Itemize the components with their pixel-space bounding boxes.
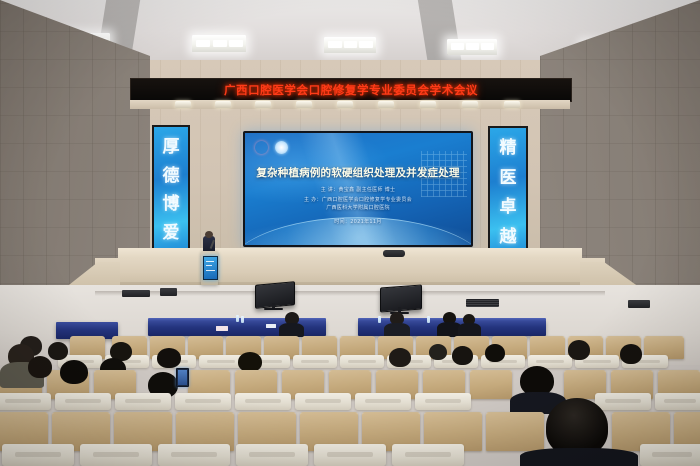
wall-wash-light (215, 101, 231, 108)
person-head (452, 346, 473, 365)
person-head (238, 352, 262, 372)
stage-equipment-box (122, 290, 150, 297)
fold-out-desk[interactable] (640, 444, 700, 466)
ceiling-light-panel (447, 39, 497, 55)
monitor-base (264, 308, 283, 310)
wall-wash-light (378, 101, 394, 108)
stage-equipment-box (160, 288, 177, 296)
hospital-logo-icon (275, 141, 288, 154)
fold-out-desk[interactable] (80, 444, 152, 466)
slide-organizer-line-2: 广西医科大学附属口腔医院 (245, 204, 471, 211)
stage-monitor-left (255, 281, 295, 308)
left-panel-char: 德 (163, 168, 180, 185)
slide-speaker-line: 主 讲：黄宝鑫 副主任医师 博士 (245, 186, 471, 193)
main-presentation-screen: 复杂种植病例的软硬组织处理及并发症处理 主 讲：黄宝鑫 副主任医师 博士 主 办… (243, 131, 473, 247)
fold-out-desk[interactable] (0, 393, 51, 410)
presenter-head (205, 231, 213, 238)
wall-wash-light (462, 101, 478, 108)
right-panel-char: 医 (500, 170, 517, 187)
fold-out-desk[interactable] (314, 444, 386, 466)
wall-wash-light (337, 101, 353, 108)
person-shoulders (384, 323, 410, 337)
fold-out-desk[interactable] (55, 393, 111, 410)
person-head (389, 348, 411, 367)
fold-out-desk[interactable] (235, 393, 291, 410)
document-on-table (216, 326, 228, 331)
fold-out-desk[interactable] (392, 444, 464, 466)
wall-wash-light (296, 101, 312, 108)
stage-equipment-box (383, 250, 405, 257)
water-bottle (241, 316, 244, 323)
slide-date-line: 时间：2021年11月 (245, 218, 471, 225)
right-panel-char: 卓 (500, 199, 517, 216)
person-shoulders (279, 323, 304, 337)
slide-organizer-line: 主 办：广西口腔医学会口腔修复学专业委员会 (245, 196, 471, 203)
led-banner: 广西口腔医学会口腔修复学专业委员会学术会议 (130, 78, 572, 102)
left-panel-char: 厚 (163, 139, 180, 156)
fold-out-desk[interactable] (415, 393, 471, 410)
water-bottle (378, 316, 381, 323)
fold-out-desk[interactable] (115, 393, 171, 410)
water-bottle (236, 315, 239, 322)
person-head (429, 344, 447, 360)
person-head (48, 342, 68, 360)
fold-out-desk[interactable] (175, 393, 231, 410)
podium-display (203, 256, 218, 280)
right-panel-char: 精 (500, 140, 517, 157)
person-shoulders (458, 323, 481, 337)
wall-wash-light (504, 101, 520, 108)
slide-title: 复杂种植病例的软硬组织处理及并发症处理 (245, 165, 471, 180)
fold-out-desk[interactable] (158, 444, 230, 466)
stage-equipment-box (466, 299, 499, 307)
fold-out-desk[interactable] (236, 444, 308, 466)
fold-out-desk[interactable] (293, 355, 337, 368)
document-on-table (266, 324, 276, 328)
fold-out-desk[interactable] (355, 393, 411, 410)
person-head (60, 360, 88, 384)
fold-out-desk[interactable] (295, 393, 351, 410)
left-panel-char: 爱 (163, 225, 180, 242)
wall-wash-light (255, 101, 271, 108)
wall-wash-light (175, 101, 191, 108)
person-head (568, 340, 590, 360)
right-led-banner-panel: 精 医 卓 越 (488, 126, 528, 260)
person-head (28, 356, 52, 378)
stage-monitor-right (380, 285, 422, 313)
right-panel-char: 越 (500, 229, 517, 246)
led-banner-text: 广西口腔医学会口腔修复学专业委员会学术会议 (224, 82, 478, 98)
conference-hall-photo: 出口 出口 广西口腔医学会口腔修复学专业委员会学术会议 厚 德 博 爱 精 医 … (0, 0, 700, 466)
fold-out-desk[interactable] (340, 355, 384, 368)
fold-out-desk[interactable] (655, 393, 700, 410)
water-bottle (427, 316, 430, 323)
person-head (485, 344, 505, 362)
ceiling-light-panel (324, 37, 376, 53)
left-panel-char: 博 (163, 196, 180, 213)
stage-equipment-box (628, 300, 650, 308)
smartphone[interactable] (176, 368, 189, 387)
auditorium-seat[interactable] (486, 412, 544, 451)
person-shoulders-foreground (520, 448, 638, 466)
fold-out-desk[interactable] (2, 444, 74, 466)
left-led-banner-panel: 厚 德 博 爱 (152, 125, 190, 256)
fold-out-desk[interactable] (595, 393, 651, 410)
wall-wash-light (420, 101, 436, 108)
fold-out-desk[interactable] (199, 355, 243, 368)
presenter-body (203, 236, 215, 252)
stage-front-face (95, 258, 605, 284)
ceiling-light-panel (192, 35, 246, 52)
person-head (157, 348, 181, 368)
person-head (620, 344, 642, 364)
association-logo-icon (255, 141, 268, 154)
auditorium-seat[interactable] (470, 370, 512, 399)
